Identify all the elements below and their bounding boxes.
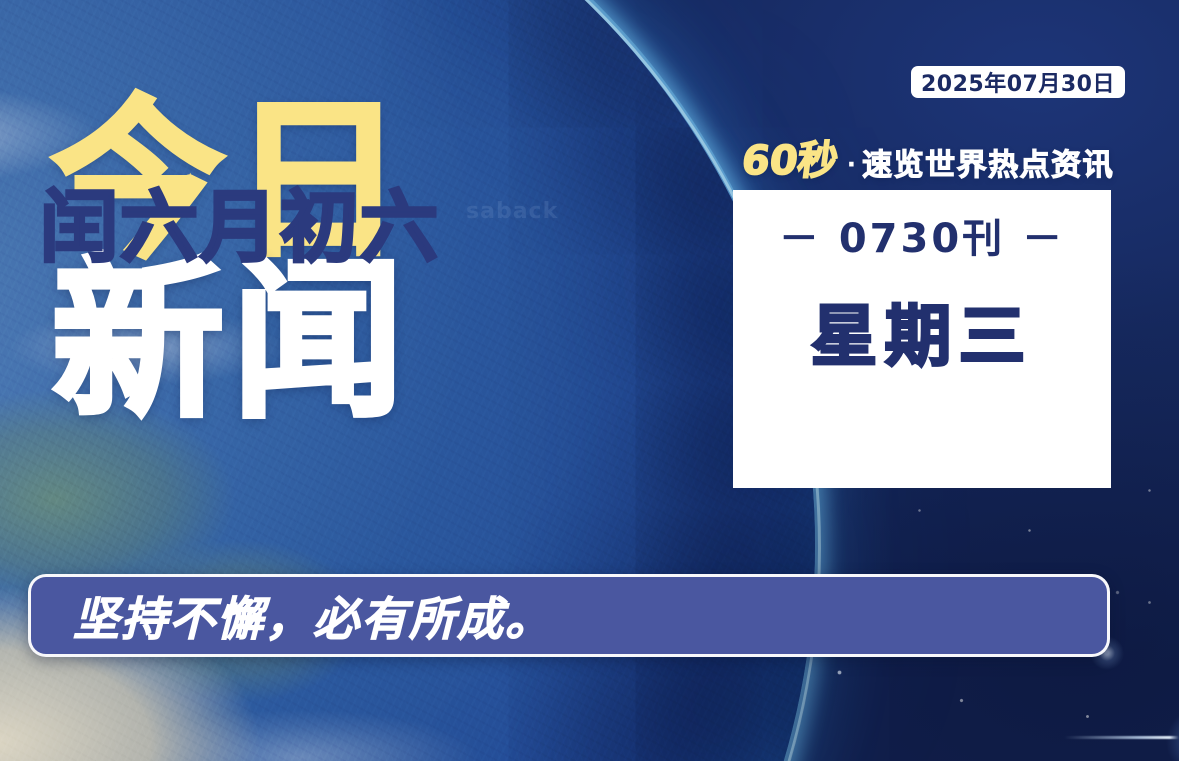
date-badge: 2025年07月30日 (911, 66, 1125, 98)
watermark-text: saback (466, 199, 558, 224)
tagline-separator-icon: · (847, 152, 857, 177)
motto-banner: 坚持不懈，必有所成。 (28, 574, 1110, 657)
issue-number: － 0730刊 － (733, 206, 1111, 264)
lens-flare-icon (1128, 700, 1179, 761)
news-poster: saback 今日 新闻 2025年07月30日 60秒 · 速览世界热点资讯 … (0, 0, 1179, 761)
motto-text: 坚持不懈，必有所成。 (73, 583, 553, 649)
masthead-line-news: 新闻 (52, 256, 412, 426)
weekday-label: 星期三 (733, 283, 1111, 379)
tagline-description: 速览世界热点资讯 (862, 151, 1114, 181)
lunar-date-label: 闰六月初六 (40, 188, 440, 270)
tagline-duration: 60秒 (740, 141, 841, 181)
info-card: － 0730刊 － 星期三 (733, 190, 1111, 488)
tagline: 60秒 · 速览世界热点资讯 (742, 141, 1114, 181)
